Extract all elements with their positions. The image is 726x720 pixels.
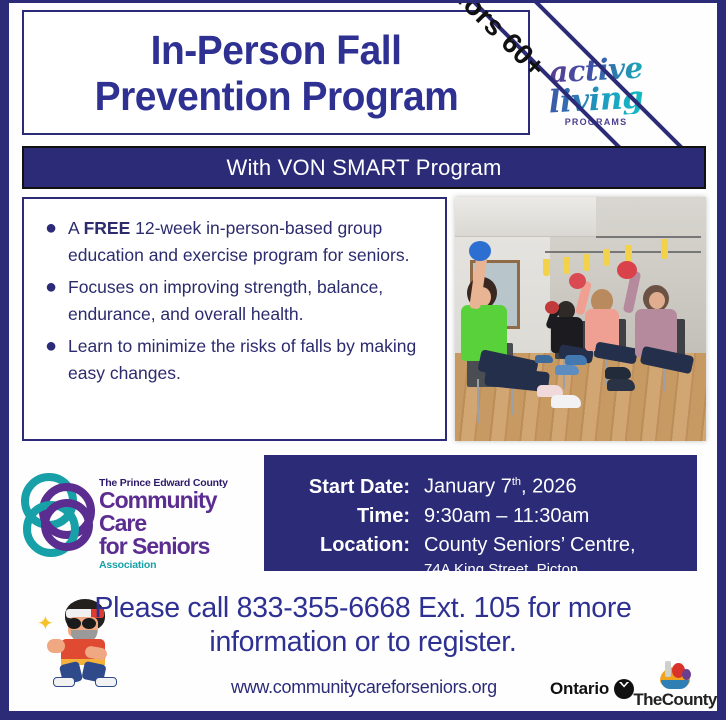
county-produce-icon [658, 661, 692, 691]
detail-value-time: 9:30am – 11:30am [424, 503, 589, 529]
page-title-line-1: In-Person Fall [151, 27, 402, 73]
county-wordmark: TheCounty [633, 691, 717, 709]
call-to-action: Please call 833-355-6668 Ext. 105 for mo… [9, 591, 717, 659]
trillium-icon [614, 679, 634, 699]
detail-label-time: Time: [274, 503, 424, 529]
photo-hand-weight-red [569, 273, 586, 289]
bullet-dot-icon: ● [34, 274, 68, 300]
ring-purple-bottom [41, 499, 93, 551]
photo-shoe [605, 367, 631, 379]
detail-row-location: Location: County Seniors’ Centre, [274, 532, 679, 558]
detail-value-start-date: January 7th, 2026 [424, 469, 577, 500]
photo-shoe [535, 355, 553, 363]
bullet-text-3: Learn to minimize the risks of falls by … [68, 333, 431, 387]
page-title-line-2: Prevention Program [94, 73, 458, 119]
community-care-logo: The Prince Edward County Community Care … [17, 465, 267, 570]
photo-shoe [565, 355, 587, 365]
website-link[interactable]: www.communitycareforseniors.org [231, 677, 497, 698]
subtitle-band: With VON SMART Program [22, 146, 706, 189]
bullet-text-1: A FREE 12-week in-person-based group edu… [68, 215, 431, 269]
photo-shoe [551, 395, 581, 408]
event-details-box: Start Date: January 7th, 2026 Time: 9:30… [264, 455, 697, 571]
photo-wall-flag [603, 249, 610, 266]
active-living-logo: active living PROGRAMS [548, 55, 644, 145]
photo-hand-weight-red [617, 261, 637, 279]
photo-shoe [607, 379, 635, 391]
list-item: ● Focuses on improving strength, balance… [34, 274, 431, 328]
list-item: ● A FREE 12-week in-person-based group e… [34, 215, 431, 269]
active-living-word-living: living [547, 83, 644, 119]
interlocking-rings-icon [21, 473, 107, 559]
org-line-2: Community Care [99, 489, 267, 535]
program-highlights-box: ● A FREE 12-week in-person-based group e… [22, 197, 447, 441]
photo-wall-flag [563, 257, 570, 274]
poster-root: In-Person Fall Prevention Program active… [0, 0, 726, 720]
bullet-text-2: Focuses on improving strength, balance, … [68, 274, 431, 328]
detail-label-start-date: Start Date: [274, 474, 424, 500]
community-care-wordmark: The Prince Edward County Community Care … [99, 477, 267, 572]
photo-wall-flag [625, 245, 632, 262]
list-item: ● Learn to minimize the risks of falls b… [34, 333, 431, 387]
county-tagline: PRINCE EDWARD COUNTY • ONTARIO [633, 710, 717, 720]
photo-ceiling [455, 197, 596, 237]
org-line-4: Association [99, 558, 267, 572]
photo-hand-weight-red [545, 301, 559, 314]
title-box: In-Person Fall Prevention Program [22, 10, 530, 135]
ontario-wordmark: Ontario [550, 679, 609, 699]
photo-chair-leg [477, 379, 479, 423]
detail-value-location: County Seniors’ Centre, [424, 532, 636, 558]
photo-wall-flag [543, 259, 550, 276]
exercise-class-photo [455, 197, 706, 441]
cta-line-1: Please call 833-355-6668 Ext. 105 for mo… [9, 591, 717, 625]
ontario-logo: Ontario [550, 679, 634, 699]
photo-face [649, 292, 665, 309]
bullet-dot-icon: ● [34, 215, 68, 241]
subtitle-band-text: With VON SMART Program [227, 155, 502, 181]
poster-canvas: In-Person Fall Prevention Program active… [9, 3, 717, 711]
photo-wall-flag [583, 254, 590, 271]
bullet-dot-icon: ● [34, 333, 68, 359]
photo-wall-rail-upper [596, 236, 701, 238]
detail-label-location: Location: [274, 532, 424, 558]
county-grapes [682, 669, 691, 680]
photo-wall-flag [661, 239, 668, 259]
detail-address: 74A King Street, Picton [274, 560, 679, 579]
photo-hand-weight-blue [469, 241, 491, 261]
the-county-logo: TheCounty PRINCE EDWARD COUNTY • ONTARIO [633, 661, 717, 720]
cta-line-2: information or to register. [9, 625, 717, 659]
photo-shoe [555, 365, 579, 375]
detail-row-time: Time: 9:30am – 11:30am [274, 503, 679, 529]
county-water [661, 680, 689, 689]
detail-row-start-date: Start Date: January 7th, 2026 [274, 469, 679, 500]
county-silo [665, 661, 671, 677]
footer: www.communitycareforseniors.org Ontario … [9, 675, 717, 709]
photo-wall-rail [545, 251, 701, 253]
org-line-3: for Seniors [99, 535, 267, 558]
